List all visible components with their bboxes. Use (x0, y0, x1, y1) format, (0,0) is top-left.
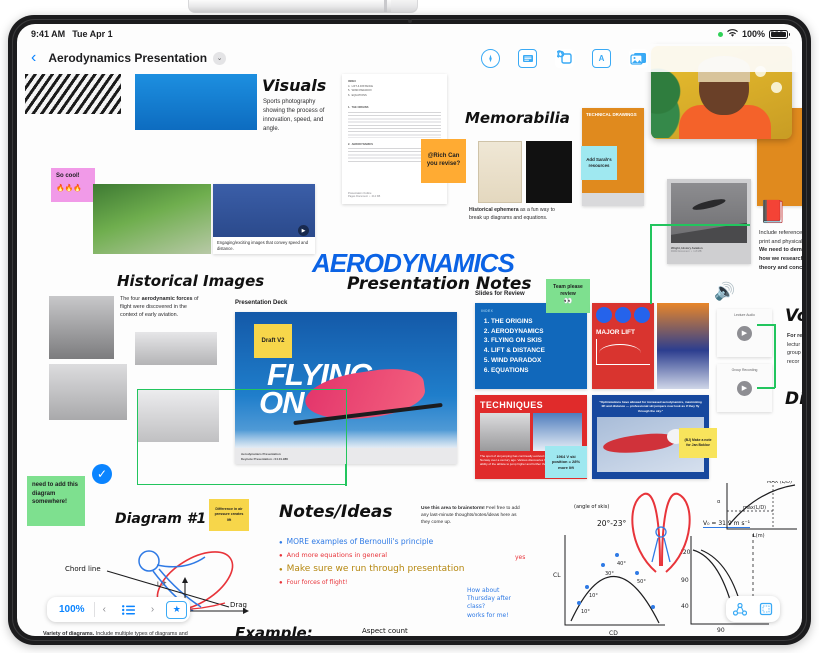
photo-glider-bw[interactable] (49, 296, 114, 359)
caption-variety-diagrams: Variety of diagrams. Include multiple ty… (43, 631, 203, 636)
play-icon[interactable]: ▶ (737, 326, 752, 341)
list-item: FLYING ON SKIS (491, 336, 581, 346)
techniques-title: TECHNIQUES (480, 400, 582, 410)
status-left: 9:41 AM Tue Apr 1 (31, 29, 113, 39)
status-right: 100% (718, 29, 788, 40)
label-presentation-deck: Presentation Deck (235, 300, 287, 306)
svg-text:90: 90 (717, 627, 725, 634)
heading-visuals: Visuals (262, 76, 326, 95)
caption-hist-pre: The four (120, 296, 142, 302)
photo-skier-helmet[interactable] (657, 303, 709, 389)
chart-angle-label: (angle of skis) (574, 504, 609, 510)
references-bold1: We need to demon (759, 247, 802, 253)
sticky-add-sarah[interactable]: Add Sarah's resources (581, 146, 617, 180)
svg-text:CD: CD (609, 630, 618, 636)
page-title: Aerodynamics Presentation (48, 51, 207, 65)
audio-card-2-title: Group Recording (717, 368, 772, 372)
connector-audio-v (774, 324, 776, 388)
nav-bar: ‹ Aerodynamics Presentation ⌄ A (17, 44, 802, 72)
label-technical-drawings: TECHNICAL DRAWINGS (586, 112, 640, 117)
voice-body: For re lectur group recor (787, 332, 802, 367)
list-item: Four forces of flight! (287, 579, 348, 586)
photo-ski-jumpers-blue[interactable] (135, 74, 257, 130)
poster-chamonix-2[interactable] (526, 141, 572, 203)
slide-index[interactable]: INDEX THE ORIGINS AERODYNAMICS FLYING ON… (475, 303, 587, 389)
label-chord-line: Chord line (65, 565, 101, 573)
svg-text:10°: 10° (581, 609, 590, 615)
optimization-quote: "Optimizations have allowed for increase… (597, 400, 704, 413)
chart-mini-max-ld: α max(L/D) L(m) MAX (L/D) (717, 481, 802, 539)
heading-di: Di (785, 389, 802, 409)
list-item: THE ORIGINS (491, 317, 581, 327)
list-item: And more equations in general (287, 551, 388, 559)
ipad-screen: 9:41 AM Tue Apr 1 100% ••• ‹ Aerodynamic… (17, 24, 802, 636)
list-icon[interactable] (114, 605, 143, 615)
status-badge-check: ✓ (92, 464, 112, 484)
connector-audio-h2 (757, 387, 775, 389)
list-item: LIFT & DISTANCE (491, 346, 581, 356)
references-text: Include references, print and physical s… (759, 229, 802, 272)
speaker-icon[interactable]: 🔊 (714, 282, 735, 302)
brainstorm-note: Use this area to brainstorm! Feel free t… (421, 506, 521, 527)
list-item: Make sure we run through presentation (287, 564, 465, 574)
chevron-down-icon[interactable]: ⌄ (213, 52, 226, 65)
background-lamp-2 (771, 82, 782, 93)
sticky-pressure[interactable]: Difference in air pressure creates lift (209, 499, 249, 531)
shape-nodes-icon[interactable] (729, 599, 751, 619)
svg-text:50°: 50° (637, 579, 646, 585)
label-slides-for-review: Slides for Review (475, 291, 525, 297)
sticky-so-cool-text: So cool! (56, 173, 90, 181)
photo-ski-hill[interactable] (93, 184, 211, 254)
sticky-1964[interactable]: 1964 V ski position = 28% more lift (545, 446, 587, 478)
techniques-photo-1 (480, 413, 530, 451)
note-reply-thursday: How about Thursday after class? (467, 587, 525, 611)
audio-card-1[interactable]: Lecture Audio ▶ (717, 309, 772, 357)
red-lobe-sketch (622, 486, 702, 576)
zoom-level[interactable]: 100% (50, 604, 94, 615)
caption-memorabilia-bold: Historical ephemera (469, 207, 519, 213)
bottom-right-toolbar[interactable] (726, 596, 780, 622)
poster-chamonix-1[interactable] (478, 141, 522, 203)
list-item: EQUATIONS (491, 366, 581, 376)
references-line2: print and physical so (759, 239, 802, 245)
sticky-note-tool[interactable] (518, 49, 537, 68)
selection-frame-historical[interactable] (137, 389, 347, 485)
card-video-engaging[interactable]: ▶ Engaging/exciting images that convey s… (213, 184, 315, 254)
battery-percent: 100% (742, 29, 765, 39)
svg-text:40: 40 (681, 603, 689, 610)
heading-historical-images: Historical Images (117, 272, 264, 290)
sticky-rich-revise[interactable]: @Rich Can you revise? (421, 139, 466, 183)
battery-icon (769, 30, 788, 39)
star-icon[interactable]: ★ (166, 601, 187, 619)
note-reply-yes: yes (515, 554, 525, 561)
caption-historical-images: The four aerodynamic forces of flight we… (120, 296, 202, 319)
variety-bold: Variety of diagrams. (43, 631, 94, 636)
zoom-toolbar[interactable]: 100% ‹ › ★ (47, 597, 190, 622)
major-lift-title: MAJOR LIFT (596, 329, 650, 336)
green-dot-icon (718, 32, 723, 37)
list-item: MORE examples of Bernoulli's principle (287, 537, 434, 546)
sticky-team-emoji: 👀 (551, 297, 585, 306)
references-bold3: theory and concept (759, 265, 802, 271)
index-list: THE ORIGINS AERODYNAMICS FLYING ON SKIS … (491, 317, 581, 375)
status-bar: 9:41 AM Tue Apr 1 100% (17, 24, 802, 44)
sticky-so-cool-emoji: 🔥🔥🔥 (56, 184, 90, 193)
prev-button[interactable]: ‹ (95, 604, 114, 615)
sticky-so-cool[interactable]: So cool! 🔥🔥🔥 (51, 168, 95, 202)
list-item: WIND PARADOX (491, 356, 581, 366)
heading-voice: Vo (785, 306, 802, 326)
svg-text:MAX (L/D): MAX (L/D) (767, 481, 792, 485)
apple-pencil (188, 0, 418, 13)
brainstorm-bold: Use this area to brainstorm! (421, 506, 485, 511)
heading-notes-ideas: Notes/Ideas (279, 502, 393, 522)
text-box-tool[interactable]: A (592, 49, 611, 68)
media-tool[interactable] (629, 49, 648, 68)
caption-hist-bold: aerodynamic forces (142, 296, 193, 302)
back-button[interactable]: ‹ (31, 49, 36, 67)
note-reply-works: works for me! (467, 612, 509, 619)
status-date: Tue Apr 1 (72, 29, 113, 39)
front-camera (408, 19, 412, 23)
pencil-band (384, 0, 387, 12)
markup-pen-tool[interactable] (481, 49, 500, 68)
notes-bullet-list: ●MORE examples of Bernoulli's principle … (279, 537, 519, 586)
connector-audio-h1 (757, 324, 775, 326)
photo-card-glider[interactable]: Wright, History Aviation RAW Document • … (667, 179, 751, 264)
pencil-tip (391, 0, 417, 12)
photo-biplane-bw[interactable] (135, 332, 217, 365)
shapes-tool[interactable] (555, 49, 574, 68)
voice-body-bold: For re (787, 333, 802, 339)
sticky-draft-v2[interactable]: Draft V2 (254, 324, 292, 358)
frame-icon[interactable] (755, 599, 777, 619)
freeform-canvas[interactable]: Visuals Sports photography showing the p… (17, 24, 802, 636)
next-button[interactable]: › (143, 604, 162, 615)
svg-text:max(L/D): max(L/D) (743, 505, 766, 511)
caption-engaging-video: Engaging/exciting images that convey spe… (213, 237, 315, 255)
list-item: AERODYNAMICS (491, 327, 581, 337)
toolbar: A (481, 49, 648, 68)
footer-handwriting: Aspect count (362, 627, 408, 635)
board-sketch-topleft[interactable] (25, 74, 121, 114)
svg-text:10°: 10° (589, 593, 598, 599)
caption-visuals: Sports photography showing the process o… (263, 98, 331, 134)
sticky-need-to-add[interactable]: need to add this diagram somewhere! (27, 476, 85, 526)
wifi-icon (727, 29, 738, 40)
svg-text:CL: CL (553, 572, 561, 579)
references-bold2: how we researched (759, 256, 802, 262)
voice-body-rest: lectur group recor (787, 342, 801, 365)
book-icon: 📕 (759, 199, 786, 225)
svg-text:α: α (717, 499, 721, 505)
connector-green-right-h (650, 224, 750, 226)
ipad-device: 9:41 AM Tue Apr 1 100% ••• ‹ Aerodynamic… (8, 15, 811, 645)
audio-card-1-title: Lecture Audio (717, 313, 772, 317)
slide-major-lift[interactable]: MAJOR LIFT (592, 303, 654, 389)
references-line1: Include references, (759, 230, 802, 236)
svg-text:L(m): L(m) (753, 533, 765, 539)
svg-text:90: 90 (681, 577, 689, 584)
sticky-team-review[interactable]: Team please review 👀 (546, 279, 590, 313)
status-time: 9:41 AM (31, 29, 65, 39)
label-example: Example: (235, 624, 313, 636)
sticky-team-text: Team please review (551, 284, 585, 297)
sticky-jump-note[interactable]: (BJ) Make a note for Jan Boklov (679, 428, 717, 458)
heading-memorabilia: Memorabilia (465, 109, 570, 127)
svg-text:30°: 30° (605, 571, 614, 577)
connector-green-right-v (650, 224, 652, 304)
caption-memorabilia: Historical ephemera as a fun way to brea… (469, 207, 569, 222)
photo-ornithopter-bw[interactable] (49, 364, 127, 420)
play-icon[interactable]: ▶ (737, 381, 752, 396)
